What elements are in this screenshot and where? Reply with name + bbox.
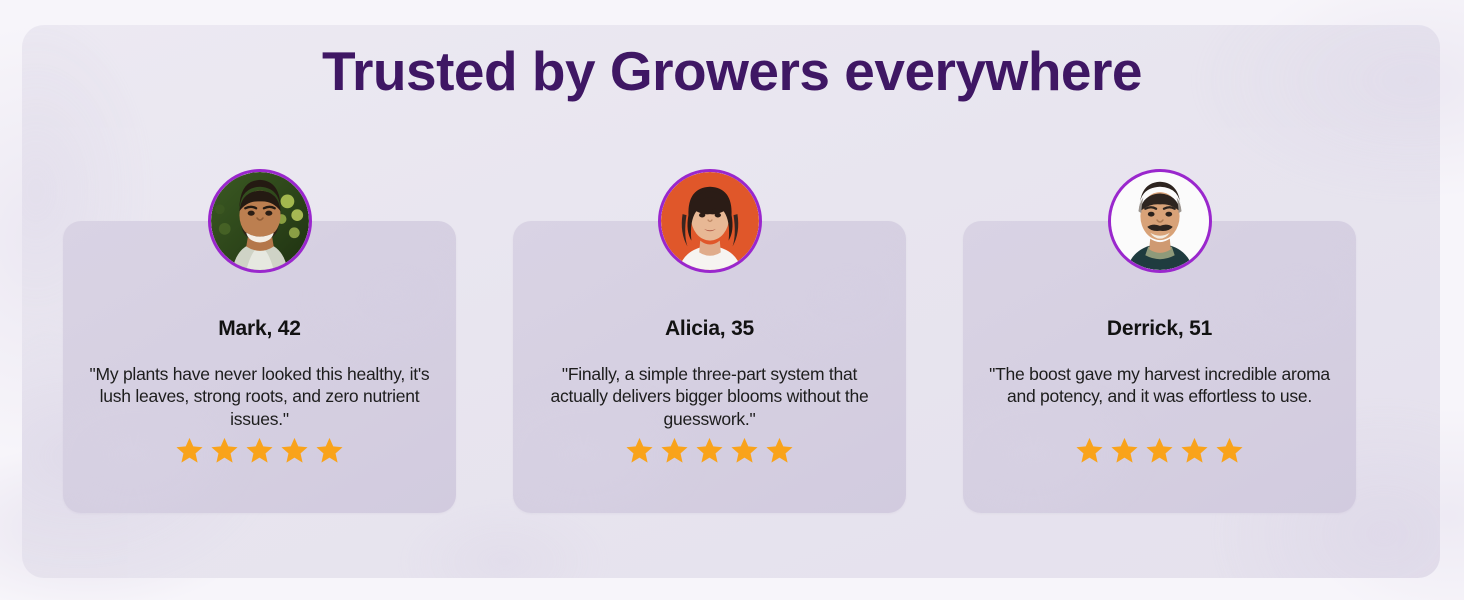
testimonial-quote: "The boost gave my harvest incredible ar… <box>982 363 1337 408</box>
rating-stars <box>963 436 1356 465</box>
testimonial-cards-row: Mark, 42 "My plants have never looked th… <box>63 195 1356 513</box>
avatar-derrick-icon <box>1111 172 1209 270</box>
star-icon <box>210 436 239 465</box>
avatar-mark-icon <box>211 172 309 270</box>
avatar <box>658 169 762 273</box>
star-icon <box>245 436 274 465</box>
star-icon <box>1110 436 1139 465</box>
testimonial-quote: "Finally, a simple three-part system tha… <box>532 363 887 430</box>
avatar <box>208 169 312 273</box>
section-heading: Trusted by Growers everywhere <box>0 42 1464 101</box>
star-icon <box>625 436 654 465</box>
star-icon <box>765 436 794 465</box>
star-icon <box>175 436 204 465</box>
rating-stars <box>513 436 906 465</box>
star-icon <box>1180 436 1209 465</box>
rating-stars <box>63 436 456 465</box>
star-icon <box>695 436 724 465</box>
person-name: Mark, 42 <box>218 317 300 341</box>
star-icon <box>660 436 689 465</box>
person-name: Alicia, 35 <box>665 317 754 341</box>
testimonial-card[interactable]: Alicia, 35 "Finally, a simple three-part… <box>513 221 906 513</box>
person-name: Derrick, 51 <box>1107 317 1212 341</box>
testimonial-quote: "My plants have never looked this health… <box>82 363 437 430</box>
star-icon <box>1215 436 1244 465</box>
star-icon <box>1145 436 1174 465</box>
star-icon <box>1075 436 1104 465</box>
testimonial-card[interactable]: Mark, 42 "My plants have never looked th… <box>63 221 456 513</box>
avatar-alicia-icon <box>661 172 759 270</box>
star-icon <box>280 436 309 465</box>
testimonial-card[interactable]: Derrick, 51 "The boost gave my harvest i… <box>963 221 1356 513</box>
star-icon <box>315 436 344 465</box>
star-icon <box>730 436 759 465</box>
avatar <box>1108 169 1212 273</box>
